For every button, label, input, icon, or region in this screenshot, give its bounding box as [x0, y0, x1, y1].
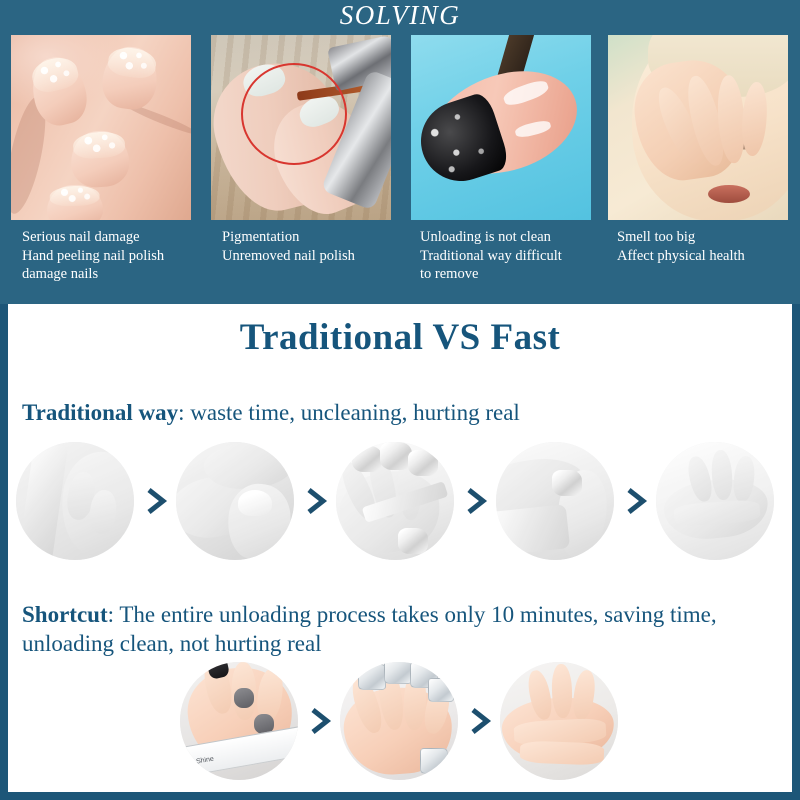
problem-photo-row [11, 35, 789, 220]
problem-photo-pigmentation [211, 35, 391, 220]
removal-clip [420, 748, 448, 774]
peeling-nail [99, 44, 161, 113]
white-surface [496, 504, 570, 556]
problem-caption-serious-nail-damage: Serious nail damage Hand peeling nail po… [22, 228, 202, 284]
comparison-title: Traditional VS Fast [8, 316, 792, 359]
removal-clip [384, 662, 412, 684]
finger [551, 664, 573, 719]
damaged-peeling-nails-image [11, 35, 191, 220]
shortcut-text: The entire unloading process takes only … [22, 602, 717, 656]
removal-clip [358, 664, 386, 690]
foil-wrap [552, 470, 582, 496]
chevron-right-icon [626, 488, 648, 514]
foil-wrap [352, 446, 382, 472]
finger [520, 741, 605, 766]
foil-wrap [408, 450, 438, 476]
shortcut-description: Shortcut: The entire unloading process t… [22, 600, 778, 658]
problem-caption-unloading-not-clean: Unloading is not clean Traditional way d… [420, 228, 606, 284]
removing-foil-from-finger-image [496, 442, 614, 560]
traditional-separator: : [178, 400, 190, 425]
fingers-with-removal-clips-image [340, 662, 458, 780]
traditional-step-1 [16, 442, 134, 560]
frame-border-left [0, 304, 8, 800]
traditional-step-3 [336, 442, 454, 560]
traditional-way-text: waste time, uncleaning, hurting real [190, 400, 520, 425]
nail-file [18, 442, 68, 560]
comparison-section: Traditional VS Fast Traditional way: was… [8, 304, 792, 792]
clean-natural-nails-image [500, 662, 618, 780]
shortcut-separator: : [108, 602, 120, 627]
baby-mouth [708, 185, 750, 203]
nail-clipper-red-circle-image [211, 35, 391, 220]
baby-covering-face-image [608, 35, 788, 220]
problem-section: SOLVING [0, 0, 800, 304]
foil-wrap [398, 528, 428, 554]
hand-with-dark-polish-image: Shine [180, 662, 298, 780]
traditional-way-description: Traditional way: waste time, uncleaning,… [22, 398, 778, 427]
product-label: Shine [196, 756, 215, 766]
shortcut-step-1: Shine [180, 662, 298, 780]
fingers-wrapped-in-foil-image [336, 442, 454, 560]
removal-clip [428, 678, 454, 702]
problem-photo-smell-too-big [608, 35, 788, 220]
traditional-steps-row [16, 442, 784, 560]
frame-border-bottom [0, 792, 800, 800]
red-highlight-circle [241, 63, 347, 165]
shortcut-step-2 [340, 662, 458, 780]
frame-border-right [792, 304, 800, 800]
shortcut-label: Shortcut [22, 602, 108, 627]
chevron-right-icon [470, 708, 492, 734]
page-title: SOLVING [0, 0, 800, 35]
problem-caption-pigmentation: Pigmentation Unremoved nail polish [222, 228, 402, 265]
problem-captions: Serious nail damage Hand peeling nail po… [0, 228, 800, 304]
traditional-step-2 [176, 442, 294, 560]
hand-holding-nail-file-image [16, 442, 134, 560]
nail [238, 490, 272, 516]
black-polish-scraping-image [411, 35, 591, 220]
peeling-nail [69, 129, 131, 189]
chevron-right-icon [306, 488, 328, 514]
peeling-nail [46, 184, 104, 220]
clean-bare-hand-image [656, 442, 774, 560]
chevron-right-icon [146, 488, 168, 514]
problem-caption-smell-too-big: Smell too big Affect physical health [617, 228, 797, 265]
problem-photo-unloading-not-clean [411, 35, 591, 220]
traditional-step-5 [656, 442, 774, 560]
gray-polished-nail [234, 688, 254, 708]
chevron-right-icon [466, 488, 488, 514]
traditional-step-4 [496, 442, 614, 560]
fingers-pressing-nail-image [176, 442, 294, 560]
infographic-page: SOLVING [0, 0, 800, 800]
shortcut-steps-row: Shine [180, 662, 640, 780]
traditional-way-label: Traditional way [22, 400, 178, 425]
shortcut-step-3 [500, 662, 618, 780]
problem-photo-serious-nail-damage [11, 35, 191, 220]
chevron-right-icon [310, 708, 332, 734]
